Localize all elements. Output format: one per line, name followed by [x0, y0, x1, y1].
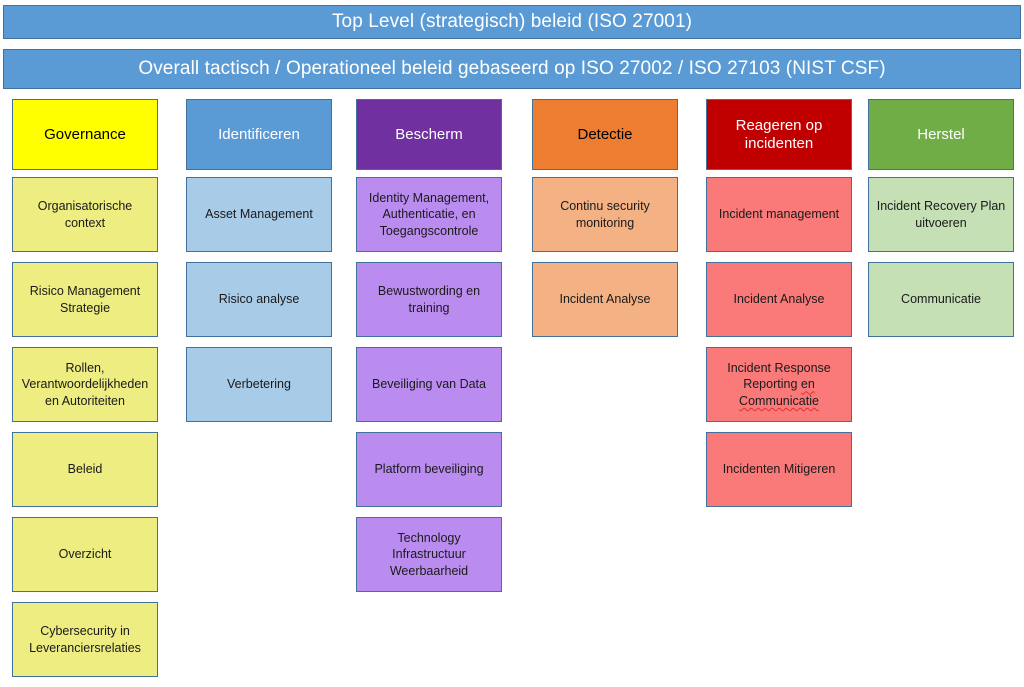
column-item-label: Cybersecurity in Leveranciersrelaties: [18, 623, 152, 656]
column-item-label: Incident management: [719, 206, 839, 223]
spellcheck-underline: en Communicatie: [739, 377, 819, 408]
column-item-label: Identity Management, Authenticatie, en T…: [362, 190, 496, 240]
column-item-label: Risico analyse: [219, 291, 300, 308]
column-item[interactable]: Platform beveiliging: [356, 432, 502, 507]
column-item[interactable]: Risico analyse: [186, 262, 332, 337]
column-item-label: Continu security monitoring: [538, 198, 672, 231]
column-item[interactable]: Rollen, Verantwoordelijkheden en Autorit…: [12, 347, 158, 422]
column-item[interactable]: Risico Management Strategie: [12, 262, 158, 337]
column-item[interactable]: Bewustwording en training: [356, 262, 502, 337]
column-bescherm: BeschermIdentity Management, Authenticat…: [356, 99, 502, 602]
column-item[interactable]: Incident Analyse: [706, 262, 852, 337]
column-item[interactable]: Communicatie: [868, 262, 1014, 337]
column-item-label: Asset Management: [205, 206, 313, 223]
column-item-label: Rollen, Verantwoordelijkheden en Autorit…: [18, 360, 152, 410]
column-header-herstel[interactable]: Herstel: [868, 99, 1014, 170]
column-item[interactable]: Incident Response Reporting en Communica…: [706, 347, 852, 422]
column-header-detectie[interactable]: Detectie: [532, 99, 678, 170]
column-item-label: Bewustwording en training: [362, 283, 496, 316]
column-header-reageren-op-incidenten[interactable]: Reageren op incidenten: [706, 99, 852, 170]
column-item[interactable]: Technology Infrastructuur Weerbaarheid: [356, 517, 502, 592]
column-item-label: Beveiliging van Data: [372, 376, 486, 393]
column-item-label: Technology Infrastructuur Weerbaarheid: [362, 530, 496, 580]
column-item[interactable]: Organisatorische context: [12, 177, 158, 252]
column-item[interactable]: Overzicht: [12, 517, 158, 592]
column-item[interactable]: Identity Management, Authenticatie, en T…: [356, 177, 502, 252]
column-reageren-op-incidenten: Reageren op incidentenIncident managemen…: [706, 99, 852, 517]
column-item-label: Organisatorische context: [18, 198, 152, 231]
column-item-label: Beleid: [68, 461, 103, 478]
column-item-label: Incident Recovery Plan uitvoeren: [874, 198, 1008, 231]
column-item[interactable]: Incidenten Mitigeren: [706, 432, 852, 507]
column-item-label: Risico Management Strategie: [18, 283, 152, 316]
column-item-label: Incidenten Mitigeren: [723, 461, 836, 478]
column-header-identificeren[interactable]: Identificeren: [186, 99, 332, 170]
column-item[interactable]: Asset Management: [186, 177, 332, 252]
column-item-label: Incident Analyse: [733, 291, 824, 308]
column-item[interactable]: Beveiliging van Data: [356, 347, 502, 422]
column-detectie: DetectieContinu security monitoringIncid…: [532, 99, 678, 347]
column-governance: GovernanceOrganisatorische contextRisico…: [12, 99, 158, 687]
column-item[interactable]: Incident management: [706, 177, 852, 252]
column-item-label: Platform beveiliging: [374, 461, 483, 478]
column-item-label: Incident Response Reporting en Communica…: [712, 360, 846, 410]
column-header-bescherm[interactable]: Bescherm: [356, 99, 502, 170]
column-item[interactable]: Incident Analyse: [532, 262, 678, 337]
column-item[interactable]: Verbetering: [186, 347, 332, 422]
column-item[interactable]: Continu security monitoring: [532, 177, 678, 252]
column-herstel: HerstelIncident Recovery Plan uitvoerenC…: [868, 99, 1014, 347]
column-item-label: Communicatie: [901, 291, 981, 308]
column-header-governance[interactable]: Governance: [12, 99, 158, 170]
column-identificeren: IdentificerenAsset ManagementRisico anal…: [186, 99, 332, 432]
column-item-label: Overzicht: [59, 546, 112, 563]
column-item[interactable]: Incident Recovery Plan uitvoeren: [868, 177, 1014, 252]
policy-column-grid: GovernanceOrganisatorische contextRisico…: [0, 0, 1024, 666]
column-item[interactable]: Beleid: [12, 432, 158, 507]
column-item-label: Incident Analyse: [559, 291, 650, 308]
column-item-label: Verbetering: [227, 376, 291, 393]
